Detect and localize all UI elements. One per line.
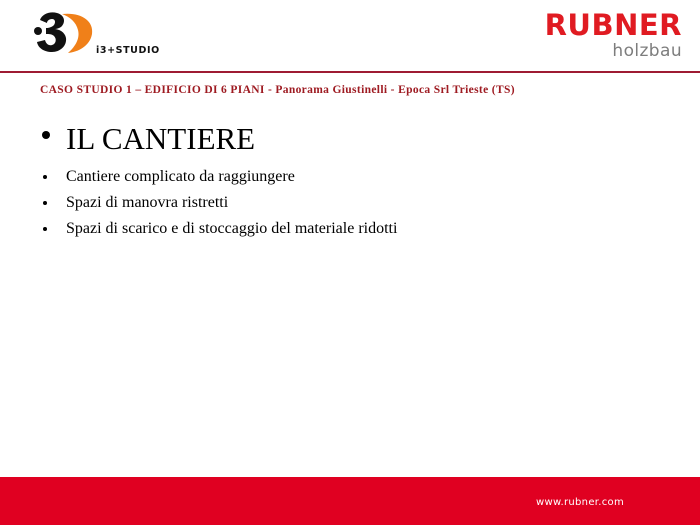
bullet-dot-icon	[43, 175, 47, 179]
list-item-label: Cantiere complicato da raggiungere	[66, 168, 295, 185]
slide-canvas: i3+STUDIO RUBNER holzbau CASO STUDIO 1 –…	[0, 0, 700, 525]
i3-studio-wordmark: i3+STUDIO	[96, 45, 160, 56]
bullet-dot-icon	[43, 227, 47, 231]
case-study-title: CASO STUDIO 1 – EDIFICIO DI 6 PIANI - Pa…	[40, 84, 670, 96]
bullet-dot-icon	[42, 131, 50, 139]
main-bullet-label: IL CANTIERE	[66, 121, 255, 156]
i3-studio-logo: i3+STUDIO	[28, 8, 178, 60]
list-item-label: Spazi di scarico e di stoccaggio del mat…	[66, 220, 397, 237]
header-divider	[0, 71, 700, 73]
main-bullet-item: IL CANTIERE	[0, 120, 700, 164]
bullet-dot-icon	[43, 201, 47, 205]
slide-footer: www.rubner.com	[0, 477, 700, 525]
sub-bullet-list: Cantiere complicato da raggiungere Spazi…	[0, 168, 700, 246]
rubner-holzbau-logo: RUBNER holzbau	[462, 10, 682, 61]
slide-content: IL CANTIERE Cantiere complicato da raggi…	[0, 120, 700, 246]
list-item: Cantiere complicato da raggiungere	[0, 168, 700, 194]
rubner-wordmark: RUBNER	[462, 10, 682, 40]
slide-header: i3+STUDIO RUBNER holzbau	[0, 0, 700, 72]
footer-website-url[interactable]: www.rubner.com	[536, 497, 624, 508]
list-item: Spazi di scarico e di stoccaggio del mat…	[0, 220, 700, 246]
list-item: Spazi di manovra ristretti	[0, 194, 700, 220]
holzbau-wordmark: holzbau	[462, 41, 682, 61]
list-item-label: Spazi di manovra ristretti	[66, 194, 228, 211]
